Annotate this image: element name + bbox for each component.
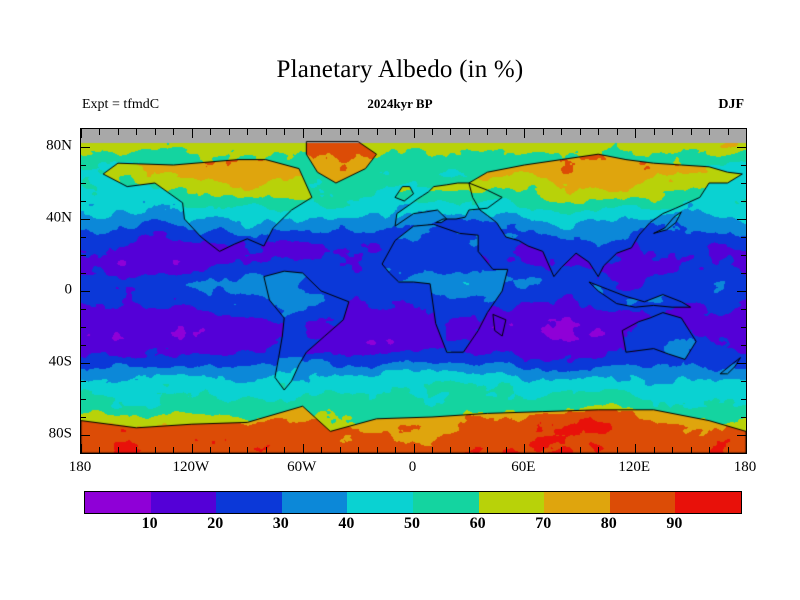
x-tick-label: 120E <box>618 459 650 476</box>
x-minor-tick <box>450 447 451 453</box>
x-minor-tick <box>432 447 433 453</box>
x-minor-tick <box>561 129 562 135</box>
colorbar-tick-label: 50 <box>404 515 420 533</box>
y-minor-tick <box>81 363 86 364</box>
x-minor-tick <box>118 129 119 135</box>
y-minor-tick <box>81 147 86 148</box>
x-minor-tick <box>210 129 211 135</box>
x-minor-tick <box>340 129 341 135</box>
colorbar-band <box>151 492 217 513</box>
x-minor-tick <box>99 129 100 135</box>
x-minor-tick <box>247 129 248 135</box>
y-minor-tick <box>81 237 86 238</box>
y-minor-tick <box>81 291 86 292</box>
x-minor-tick <box>450 129 451 135</box>
x-minor-tick <box>432 129 433 135</box>
x-minor-tick <box>118 447 119 453</box>
y-tick-label: 0 <box>8 282 72 299</box>
planetary-albedo-figure: Planetary Albedo (in %) 2024kyr BP Expt … <box>0 0 800 600</box>
colorbar-band <box>347 492 413 513</box>
x-minor-tick <box>543 447 544 453</box>
x-minor-tick <box>377 447 378 453</box>
x-minor-tick <box>635 129 636 135</box>
colorbar-tick-label: 60 <box>470 515 486 533</box>
y-minor-tick <box>81 165 86 166</box>
colorbar-band <box>675 492 741 513</box>
experiment-label: Expt = tfmdC <box>82 97 159 113</box>
colorbar-band <box>85 492 151 513</box>
x-minor-tick <box>487 447 488 453</box>
x-minor-tick <box>321 447 322 453</box>
y-minor-tick <box>741 255 746 256</box>
y-minor-tick <box>741 309 746 310</box>
colorbar-labels: 102030405060708090 <box>84 515 740 539</box>
x-minor-tick <box>635 447 636 453</box>
y-minor-tick <box>81 327 86 328</box>
y-tick-label: 40S <box>8 354 72 371</box>
x-minor-tick <box>229 447 230 453</box>
x-minor-tick <box>506 447 507 453</box>
colorbar-tick-label: 30 <box>273 515 289 533</box>
x-minor-tick <box>284 129 285 135</box>
y-minor-tick <box>741 201 746 202</box>
x-minor-tick <box>340 447 341 453</box>
x-major-tick <box>81 444 82 453</box>
y-tick-label: 80S <box>8 426 72 443</box>
x-minor-tick <box>561 447 562 453</box>
x-minor-tick <box>99 447 100 453</box>
x-minor-tick <box>672 447 673 453</box>
colorbar-band <box>479 492 545 513</box>
x-minor-tick <box>691 447 692 453</box>
x-major-tick <box>746 129 747 138</box>
x-minor-tick <box>524 129 525 135</box>
y-minor-tick <box>81 435 86 436</box>
colorbar-band <box>413 492 479 513</box>
y-minor-tick <box>741 435 746 436</box>
x-minor-tick <box>395 447 396 453</box>
colorbar-tick-label: 20 <box>207 515 223 533</box>
y-minor-tick <box>81 273 86 274</box>
y-minor-tick <box>741 381 746 382</box>
x-minor-tick <box>617 129 618 135</box>
x-minor-tick <box>598 129 599 135</box>
x-minor-tick <box>303 129 304 135</box>
colorbar <box>84 491 742 514</box>
x-minor-tick <box>136 129 137 135</box>
colorbar-tick-label: 80 <box>601 515 617 533</box>
y-minor-tick <box>81 255 86 256</box>
x-minor-tick <box>414 447 415 453</box>
x-minor-tick <box>654 447 655 453</box>
albedo-field-canvas <box>81 129 746 453</box>
colorbar-band <box>544 492 610 513</box>
x-minor-tick <box>155 129 156 135</box>
y-minor-tick <box>741 291 746 292</box>
y-minor-tick <box>741 219 746 220</box>
colorbar-band <box>282 492 348 513</box>
y-minor-tick <box>741 273 746 274</box>
x-tick-label: 180 <box>69 459 92 476</box>
x-minor-tick <box>487 129 488 135</box>
y-minor-tick <box>741 345 746 346</box>
x-minor-tick <box>210 447 211 453</box>
x-minor-tick <box>524 447 525 453</box>
x-minor-tick <box>598 447 599 453</box>
y-minor-tick <box>741 327 746 328</box>
y-minor-tick <box>741 165 746 166</box>
y-tick-label: 40N <box>8 210 72 227</box>
x-minor-tick <box>321 129 322 135</box>
x-minor-tick <box>543 129 544 135</box>
colorbar-tick-label: 70 <box>535 515 551 533</box>
x-minor-tick <box>266 447 267 453</box>
y-minor-tick <box>741 363 746 364</box>
x-minor-tick <box>654 129 655 135</box>
y-minor-tick <box>81 183 86 184</box>
x-tick-label: 60E <box>511 459 535 476</box>
colorbar-tick-label: 10 <box>142 515 158 533</box>
x-minor-tick <box>247 447 248 453</box>
y-minor-tick <box>741 183 746 184</box>
x-tick-label: 0 <box>409 459 417 476</box>
colorbar-tick-label: 40 <box>338 515 354 533</box>
y-minor-tick <box>81 309 86 310</box>
y-minor-tick <box>81 399 86 400</box>
y-tick-label: 80N <box>8 138 72 155</box>
x-minor-tick <box>192 129 193 135</box>
y-minor-tick <box>81 345 86 346</box>
x-minor-tick <box>506 129 507 135</box>
y-minor-tick <box>81 417 86 418</box>
x-minor-tick <box>580 447 581 453</box>
x-tick-label: 60W <box>287 459 316 476</box>
x-minor-tick <box>395 129 396 135</box>
colorbar-tick-label: 90 <box>666 515 682 533</box>
x-minor-tick <box>192 447 193 453</box>
x-minor-tick <box>580 129 581 135</box>
y-minor-tick <box>741 399 746 400</box>
y-minor-tick <box>741 237 746 238</box>
y-minor-tick <box>81 201 86 202</box>
map-plot-area <box>80 128 747 454</box>
x-minor-tick <box>284 447 285 453</box>
x-tick-label: 180 <box>734 459 757 476</box>
x-minor-tick <box>414 129 415 135</box>
x-minor-tick <box>173 129 174 135</box>
x-minor-tick <box>728 447 729 453</box>
y-minor-tick <box>741 417 746 418</box>
x-minor-tick <box>469 447 470 453</box>
x-major-tick <box>81 129 82 138</box>
x-minor-tick <box>377 129 378 135</box>
x-minor-tick <box>709 447 710 453</box>
season-label: DJF <box>718 97 744 113</box>
x-minor-tick <box>303 447 304 453</box>
x-minor-tick <box>155 447 156 453</box>
colorbar-band <box>216 492 282 513</box>
x-minor-tick <box>691 129 692 135</box>
x-axis-labels: 180120W60W060E120E180 <box>80 459 745 481</box>
colorbar-band <box>610 492 676 513</box>
x-major-tick <box>746 444 747 453</box>
y-minor-tick <box>741 147 746 148</box>
x-minor-tick <box>728 129 729 135</box>
x-minor-tick <box>617 447 618 453</box>
y-minor-tick <box>81 219 86 220</box>
x-minor-tick <box>469 129 470 135</box>
x-minor-tick <box>136 447 137 453</box>
x-minor-tick <box>173 447 174 453</box>
x-minor-tick <box>709 129 710 135</box>
y-axis-labels: 80N40N040S80S <box>8 128 72 452</box>
x-minor-tick <box>672 129 673 135</box>
x-minor-tick <box>358 129 359 135</box>
x-minor-tick <box>266 129 267 135</box>
x-minor-tick <box>358 447 359 453</box>
y-minor-tick <box>81 381 86 382</box>
x-tick-label: 120W <box>172 459 209 476</box>
x-minor-tick <box>229 129 230 135</box>
page-title: Planetary Albedo (in %) <box>0 56 800 84</box>
